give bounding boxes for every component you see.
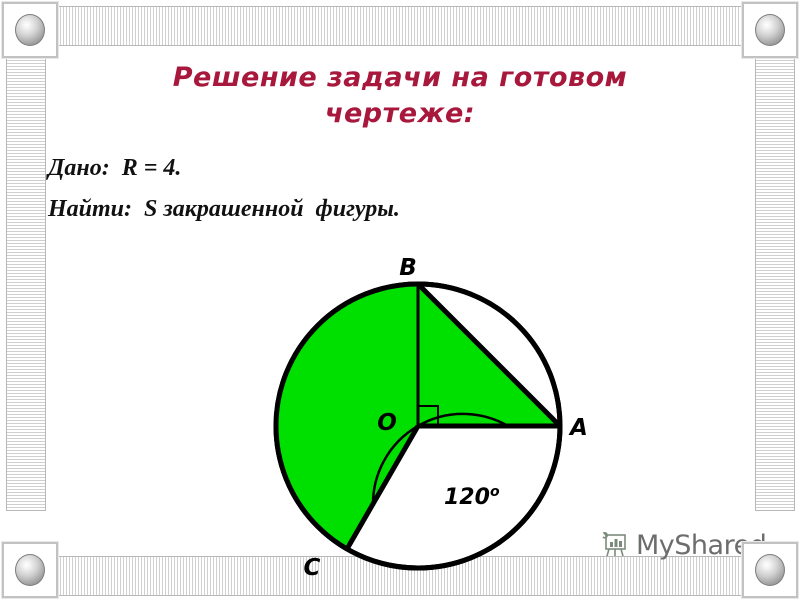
frame-corner-top-left (2, 2, 58, 58)
frame-bar-left (6, 56, 46, 511)
frame-corner-bottom-left (2, 542, 58, 598)
sphere-rivet-icon (15, 554, 45, 586)
sphere-rivet-icon (755, 554, 785, 586)
slide-canvas: Решение задачи на готовом чертеже: Дано:… (0, 0, 800, 600)
sphere-rivet-icon (755, 14, 785, 46)
slide-title-line-2: чертеже: (120, 96, 680, 132)
find-line: Найти: S закрашенной фигуры. (48, 196, 608, 223)
flipchart-bar-chart-icon (600, 528, 630, 563)
degree-symbol: o (490, 484, 500, 500)
slide-title: Решение задачи на готовом чертеже: (120, 60, 680, 132)
frame-bar-right (755, 56, 795, 511)
frame-corner-bottom-right (742, 542, 798, 598)
slide-title-line-1: Решение задачи на готовом (120, 60, 680, 96)
vertex-label-A: A (568, 415, 588, 441)
angle-label-value: 120 (444, 485, 490, 510)
vertex-label-C: C (304, 555, 321, 581)
sphere-rivet-icon (15, 14, 45, 46)
frame-corner-top-right (742, 2, 798, 58)
geometry-figure: B A C O 120o (250, 255, 610, 595)
vertex-label-B: B (399, 255, 417, 281)
problem-statement: Дано: R = 4. Найти: S закрашенной фигуры… (48, 155, 608, 237)
given-line: Дано: R = 4. (48, 155, 608, 182)
vertex-label-O: O (377, 410, 397, 436)
frame-bar-top (56, 6, 746, 46)
